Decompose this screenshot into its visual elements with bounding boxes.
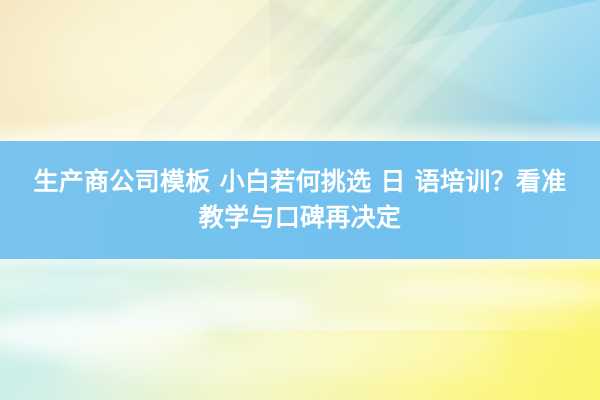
title-banner: 生产商公司模板 小白若何挑选 日 语培训？看准 教学与口碑再决定 [0,141,600,259]
cloud-shape [0,273,150,299]
cloud-shape [380,277,600,307]
yellow-wash-overlay [0,330,600,400]
banner-title-text: 生产商公司模板 小白若何挑选 日 语培训？看准 教学与口碑再决定 [20,164,580,236]
banner-image: 生产商公司模板 小白若何挑选 日 语培训？看准 教学与口碑再决定 [0,0,600,400]
bottom-band-top-fade [0,259,600,273]
top-gradient-band [0,0,600,141]
bottom-sky-band [0,259,600,400]
top-band-bottom-fade [0,119,600,141]
